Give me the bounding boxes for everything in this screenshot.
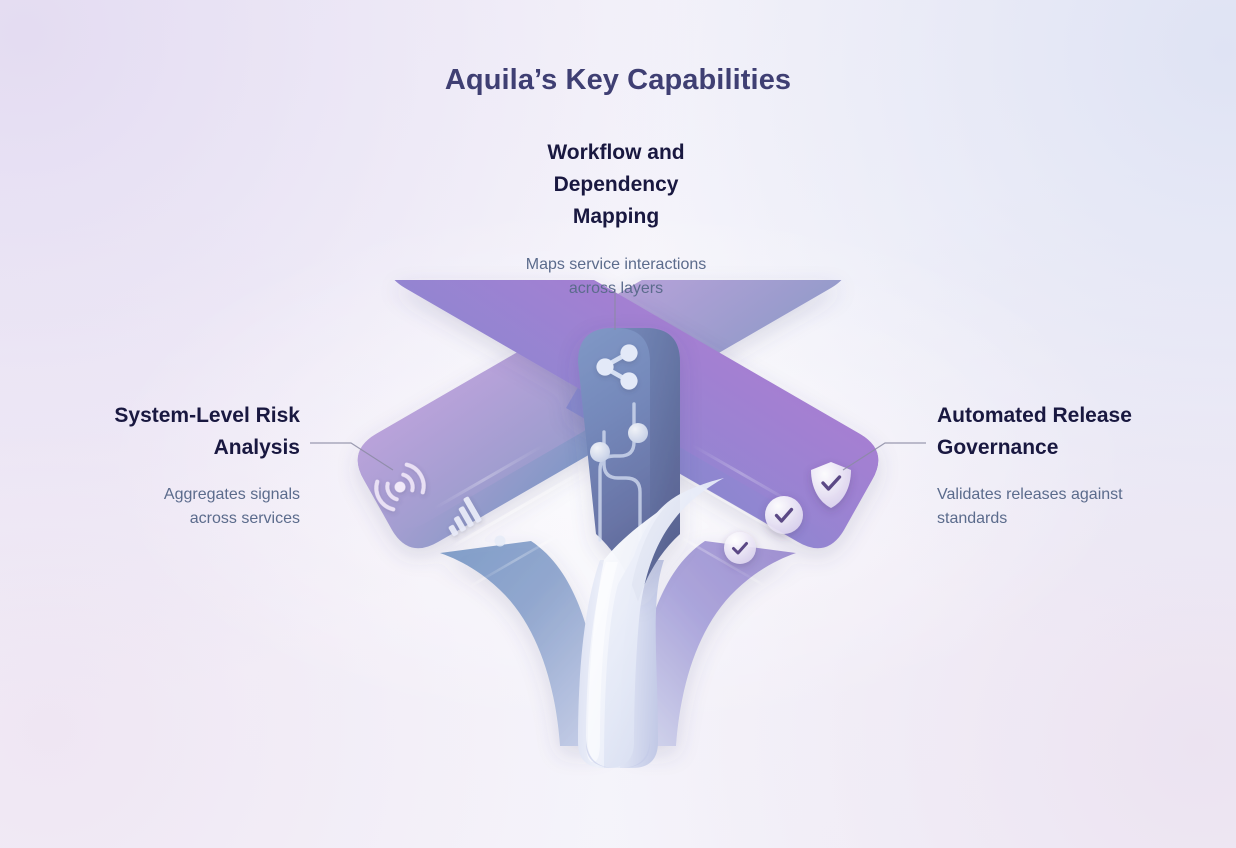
callout-title: Workflow and Dependency Mapping <box>448 137 784 233</box>
check-circle-icon <box>724 532 756 564</box>
callout-system-level-risk-analysis: System-Level Risk Analysis Aggregates si… <box>32 400 300 531</box>
callout-workflow-dependency-mapping: Workflow and Dependency Mapping Maps ser… <box>448 137 784 301</box>
page-title: Aquila’s Key Capabilities <box>0 64 1236 97</box>
callout-description: Maps service interactions across layers <box>448 253 784 301</box>
infographic-canvas: Aquila’s Key Capabilities Workflow and D… <box>0 0 1236 848</box>
callout-title: System-Level Risk Analysis <box>32 400 300 464</box>
callout-automated-release-governance: Automated Release Governance Validates r… <box>937 400 1207 531</box>
check-circle-icon <box>765 496 803 534</box>
callout-description: Aggregates signals across services <box>32 483 300 531</box>
callout-title: Automated Release Governance <box>937 400 1207 464</box>
callout-description: Validates releases against standards <box>937 483 1207 531</box>
